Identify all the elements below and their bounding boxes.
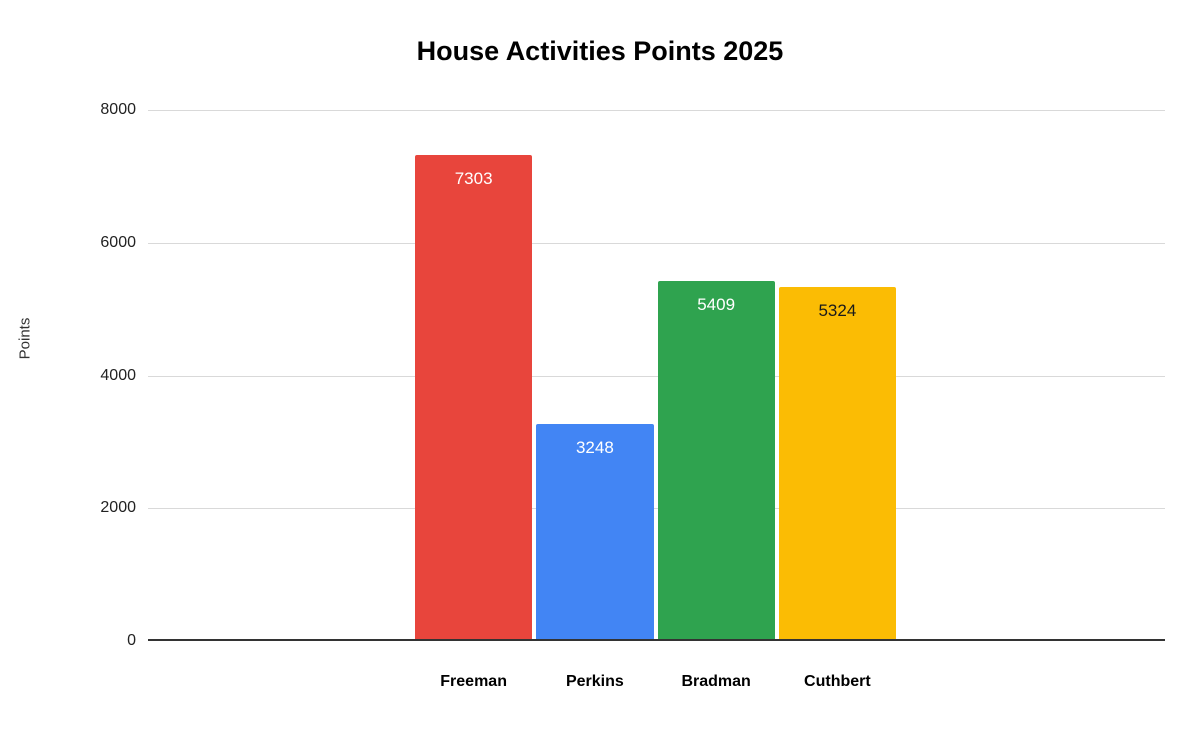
bar-chart: House Activities Points 2025 Points 0200… [0,0,1200,742]
x-axis-tick-labels: FreemanPerkinsBradmanCuthbert [148,673,1165,697]
bar[interactable]: 7303 [415,155,532,640]
y-axis-tick-label: 2000 [16,499,136,517]
bar-value-label: 5409 [658,295,775,315]
y-axis-tick-label: 8000 [16,101,136,119]
chart-title: House Activities Points 2025 [0,36,1200,67]
bar-value-label: 3248 [536,438,653,458]
x-axis-tick-label: Bradman [681,673,750,691]
bar-value-label: 5324 [779,301,896,321]
x-axis-line [148,639,1165,641]
y-axis-tick-label: 6000 [16,234,136,252]
x-axis-tick-label: Cuthbert [804,673,871,691]
y-axis-tick-label: 0 [16,632,136,650]
bar[interactable]: 5324 [779,287,896,640]
plot-area: 02000400060008000 7303324854095324 [148,110,1165,641]
bar[interactable]: 5409 [658,281,775,640]
bar[interactable]: 3248 [536,424,653,640]
x-axis-tick-label: Freeman [440,673,507,691]
bars-layer: 7303324854095324 [148,110,1165,641]
bar-value-label: 7303 [415,169,532,189]
y-axis-tick-label: 4000 [16,367,136,385]
x-axis-tick-label: Perkins [566,673,624,691]
